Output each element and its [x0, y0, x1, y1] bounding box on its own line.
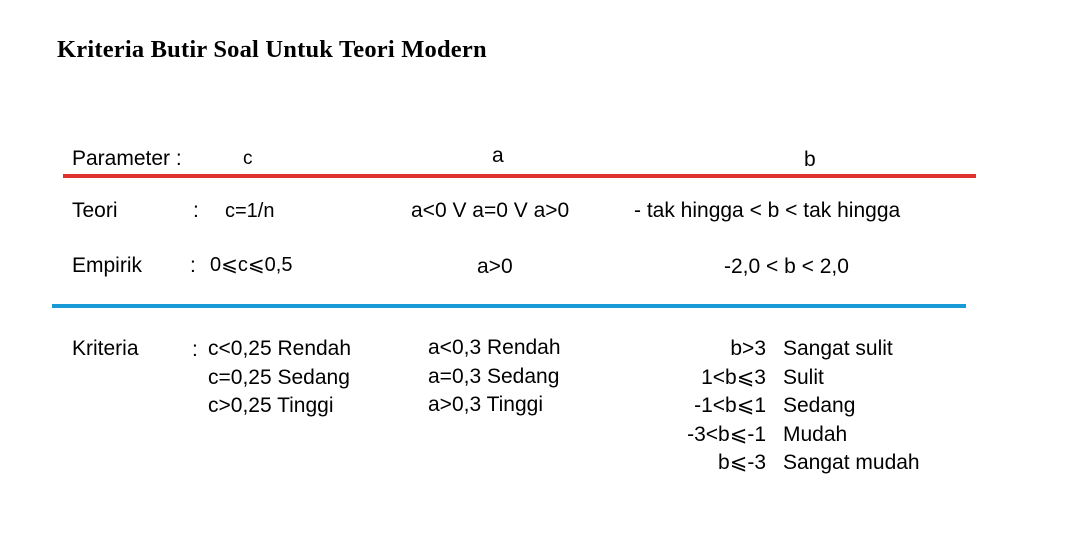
kriteria-c-line: c=0,25 Sedang	[208, 364, 351, 393]
slide-canvas: Kriteria Butir Soal Untuk Teori Modern P…	[0, 0, 1082, 539]
kriteria-b-label: Sedang	[766, 392, 855, 421]
kriteria-a-line: a>0,3 Tinggi	[428, 391, 561, 420]
kriteria-column-a: a<0,3 Rendah a=0,3 Sedang a>0,3 Tinggi	[428, 334, 561, 420]
page-title: Kriteria Butir Soal Untuk Teori Modern	[57, 36, 487, 64]
kriteria-b-line: -1<b⩽1Sedang	[660, 392, 960, 421]
kriteria-b-line: 1<b⩽3Sulit	[660, 364, 960, 393]
divider-rule-red	[63, 174, 976, 178]
kriteria-c-line: c>0,25 Tinggi	[208, 392, 351, 421]
kriteria-b-expression: -3<b⩽-1	[660, 421, 766, 450]
row-colon-empirik: :	[190, 252, 196, 279]
kriteria-b-label: Sangat sulit	[766, 335, 893, 364]
kriteria-column-b: b>3Sangat sulit 1<b⩽3Sulit -1<b⩽1Sedang …	[660, 335, 960, 478]
empirik-value-b: -2,0 < b < 2,0	[724, 253, 849, 280]
kriteria-b-expression: b⩽-3	[660, 449, 766, 478]
header-column-b: b	[804, 146, 816, 173]
empirik-value-a: a>0	[477, 253, 513, 280]
header-parameter-label: Parameter :	[72, 145, 182, 172]
row-label-kriteria: Kriteria	[72, 335, 139, 362]
row-label-empirik: Empirik	[72, 252, 142, 279]
header-column-a: a	[492, 142, 504, 169]
teori-value-a: a<0 V a=0 V a>0	[411, 197, 569, 224]
kriteria-b-line: b>3Sangat sulit	[660, 335, 960, 364]
kriteria-b-expression: b>3	[660, 335, 766, 364]
teori-value-b: - tak hingga < b < tak hingga	[634, 197, 900, 224]
row-label-teori: Teori	[72, 197, 118, 224]
kriteria-b-label: Sangat mudah	[766, 449, 920, 478]
kriteria-column-c: c<0,25 Rendah c=0,25 Sedang c>0,25 Tingg…	[208, 335, 351, 421]
kriteria-c-line: c<0,25 Rendah	[208, 335, 351, 364]
teori-value-c: c=1/n	[225, 198, 274, 224]
kriteria-b-label: Sulit	[766, 364, 824, 393]
row-colon-kriteria: :	[192, 336, 198, 363]
kriteria-b-expression: 1<b⩽3	[660, 364, 766, 393]
row-colon-teori: :	[193, 197, 199, 224]
empirik-value-c: 0⩽c⩽0,5	[210, 252, 292, 278]
kriteria-a-line: a<0,3 Rendah	[428, 334, 561, 363]
kriteria-b-label: Mudah	[766, 421, 847, 450]
kriteria-b-line: -3<b⩽-1Mudah	[660, 421, 960, 450]
header-column-c: c	[243, 147, 253, 172]
divider-rule-blue	[52, 304, 966, 308]
kriteria-b-expression: -1<b⩽1	[660, 392, 766, 421]
kriteria-b-line: b⩽-3Sangat mudah	[660, 449, 960, 478]
kriteria-a-line: a=0,3 Sedang	[428, 363, 561, 392]
